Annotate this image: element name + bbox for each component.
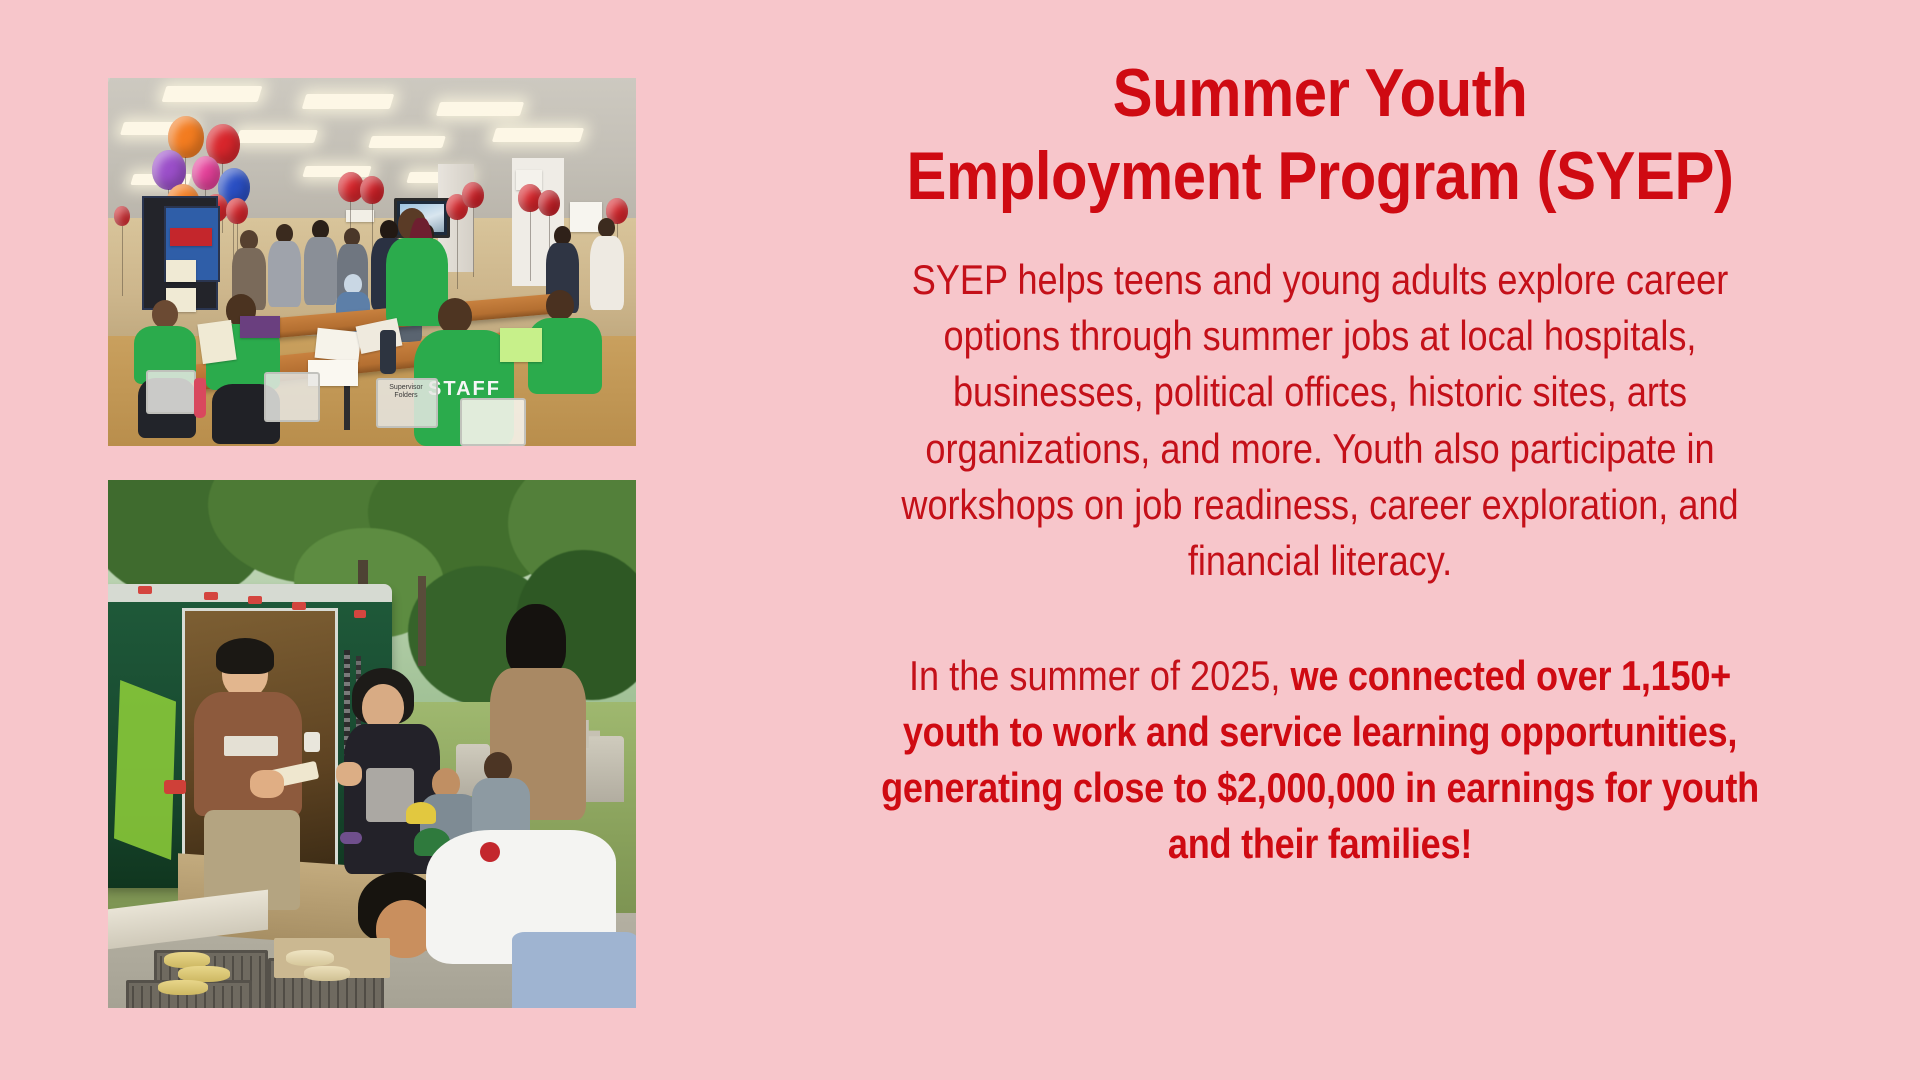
ceiling-light: [368, 136, 446, 148]
gravestone: [584, 736, 624, 802]
balloon-red: [360, 176, 384, 204]
person-body: [268, 241, 301, 307]
person-head: [380, 220, 398, 240]
balloon-red: [462, 182, 484, 208]
hard-hat: [406, 802, 436, 824]
banner-letters: [170, 228, 212, 246]
ceiling-light: [302, 166, 371, 177]
corn-ear: [286, 950, 334, 966]
marker-light: [204, 592, 218, 600]
impact-statement: In the summer of 2025, we connected over…: [864, 648, 1776, 873]
storage-bin: [146, 370, 196, 414]
person-head: [240, 230, 258, 250]
person-body: [304, 237, 337, 305]
ceiling-light: [302, 94, 395, 109]
impact-lead-in: In the summer of 2025,: [909, 652, 1290, 699]
person-hair: [216, 638, 274, 674]
storage-bin: [460, 398, 526, 446]
binder: [240, 316, 280, 338]
balloon-red: [226, 198, 248, 224]
photo-column: STAFF Supervisor Folders: [108, 78, 636, 1008]
staff-head: [152, 300, 178, 328]
marker-light: [354, 610, 366, 618]
tree-trunk: [418, 576, 426, 666]
water-bottle: [380, 330, 396, 374]
bin-label: Supervisor Folders: [382, 384, 430, 400]
corn-ear: [304, 966, 350, 981]
hand: [250, 770, 284, 798]
slide-canvas: STAFF Supervisor Folders: [0, 0, 1920, 1080]
page-title: Summer Youth Employment Program (SYEP): [854, 52, 1787, 218]
ceiling-light: [436, 102, 524, 116]
tail-light: [164, 780, 186, 794]
corn-ear: [158, 980, 208, 995]
ceiling-light: [492, 128, 584, 142]
hand: [336, 762, 362, 786]
photo-orientation: STAFF Supervisor Folders: [108, 78, 636, 446]
staff-head: [546, 290, 574, 320]
person-head: [598, 218, 615, 237]
storage-bin: [264, 372, 320, 422]
shirt-logo: [480, 842, 500, 862]
ceiling-light: [162, 86, 263, 102]
paper-sheet: [315, 328, 362, 362]
balloon-red: [538, 190, 560, 216]
headline-line-1: Summer Youth: [1113, 55, 1528, 131]
marker-light: [292, 602, 306, 610]
trailer-item: [304, 732, 320, 752]
person-body: [590, 236, 624, 310]
water-bottle: [194, 378, 206, 418]
shirt-graphic: [224, 736, 278, 756]
trailer-side-graphic: [114, 680, 176, 860]
person-head: [344, 274, 362, 294]
person-hair: [506, 604, 566, 678]
text-column: Summer Youth Employment Program (SYEP) S…: [790, 52, 1850, 873]
balloon-pink: [192, 156, 220, 190]
person-jeans: [512, 932, 636, 1008]
wristband: [340, 832, 362, 844]
headline-line-2: Employment Program (SYEP): [907, 138, 1734, 214]
photo-service-learning: [108, 480, 636, 1008]
ceiling-light: [236, 130, 318, 143]
program-description: SYEP helps teens and young adults explor…: [864, 252, 1776, 590]
green-handout: [500, 328, 542, 362]
folder: [197, 320, 236, 364]
person-body: [472, 778, 530, 838]
marker-light: [248, 596, 262, 604]
staff-head: [438, 298, 472, 334]
marker-light: [138, 586, 152, 594]
sign: [166, 260, 196, 282]
balloon-red: [114, 206, 130, 226]
